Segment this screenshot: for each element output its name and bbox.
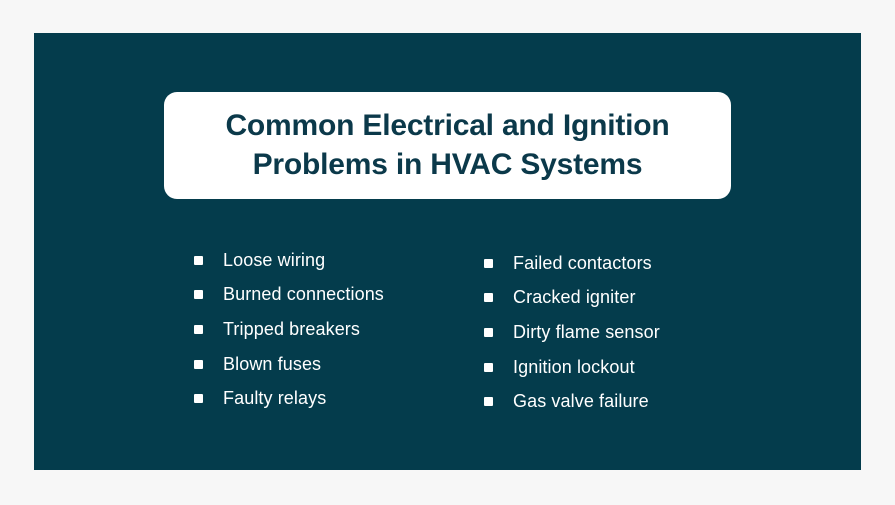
content-panel: Common Electrical and Ignition Problems … [34,33,861,470]
page-title: Common Electrical and Ignition Problems … [182,107,713,183]
list-item-label: Gas valve failure [513,391,649,412]
square-bullet-icon [484,259,493,268]
right-column-list: Failed contactors Cracked igniter Dirty … [484,243,784,419]
square-bullet-icon [484,397,493,406]
square-bullet-icon [484,363,493,372]
list-item: Faulty relays [194,381,484,416]
list-item-label: Failed contactors [513,253,652,274]
square-bullet-icon [194,256,203,265]
square-bullet-icon [194,394,203,403]
square-bullet-icon [484,328,493,337]
list-item-label: Burned connections [223,284,384,305]
list-item-label: Dirty flame sensor [513,322,660,343]
list-item: Gas valve failure [484,384,784,419]
list-item-label: Blown fuses [223,354,321,375]
problem-lists: Loose wiring Burned connections Tripped … [194,243,794,419]
list-item: Blown fuses [194,347,484,382]
list-item: Failed contactors [484,246,784,281]
slide-root: Common Electrical and Ignition Problems … [0,0,895,505]
square-bullet-icon [194,360,203,369]
list-item-label: Loose wiring [223,250,325,271]
list-item: Tripped breakers [194,312,484,347]
title-card: Common Electrical and Ignition Problems … [164,92,731,199]
list-item: Loose wiring [194,243,484,278]
list-item: Burned connections [194,278,484,313]
list-item: Ignition lockout [484,350,784,385]
left-column-list: Loose wiring Burned connections Tripped … [194,243,484,419]
list-item-label: Ignition lockout [513,357,635,378]
list-item-label: Faulty relays [223,388,326,409]
square-bullet-icon [194,290,203,299]
list-item-label: Cracked igniter [513,287,636,308]
list-item-label: Tripped breakers [223,319,360,340]
square-bullet-icon [484,293,493,302]
list-item: Dirty flame sensor [484,315,784,350]
square-bullet-icon [194,325,203,334]
list-item: Cracked igniter [484,281,784,316]
